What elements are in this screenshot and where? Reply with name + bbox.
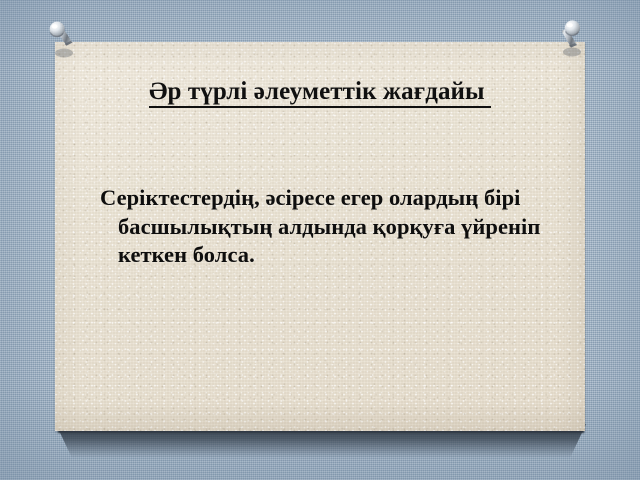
presentation-slide: Әр түрлі әлеуметтік жағдайы Серіктестерд… bbox=[0, 0, 640, 480]
slide-title-underline: Әр түрлі әлеуметтік жағдайы bbox=[149, 78, 491, 108]
pushpin-icon-right bbox=[556, 19, 590, 59]
slide-body-text: Серіктестердің, әсіресе егер олардың бір… bbox=[100, 184, 570, 270]
pushpin-icon bbox=[44, 20, 78, 60]
pushpin-icon bbox=[556, 19, 590, 59]
pushpin-icon-left bbox=[44, 20, 78, 60]
slide-title: Әр түрлі әлеуметтік жағдайы bbox=[55, 78, 585, 106]
slide-text-area: Әр түрлі әлеуметтік жағдайы Серіктестерд… bbox=[55, 42, 585, 431]
